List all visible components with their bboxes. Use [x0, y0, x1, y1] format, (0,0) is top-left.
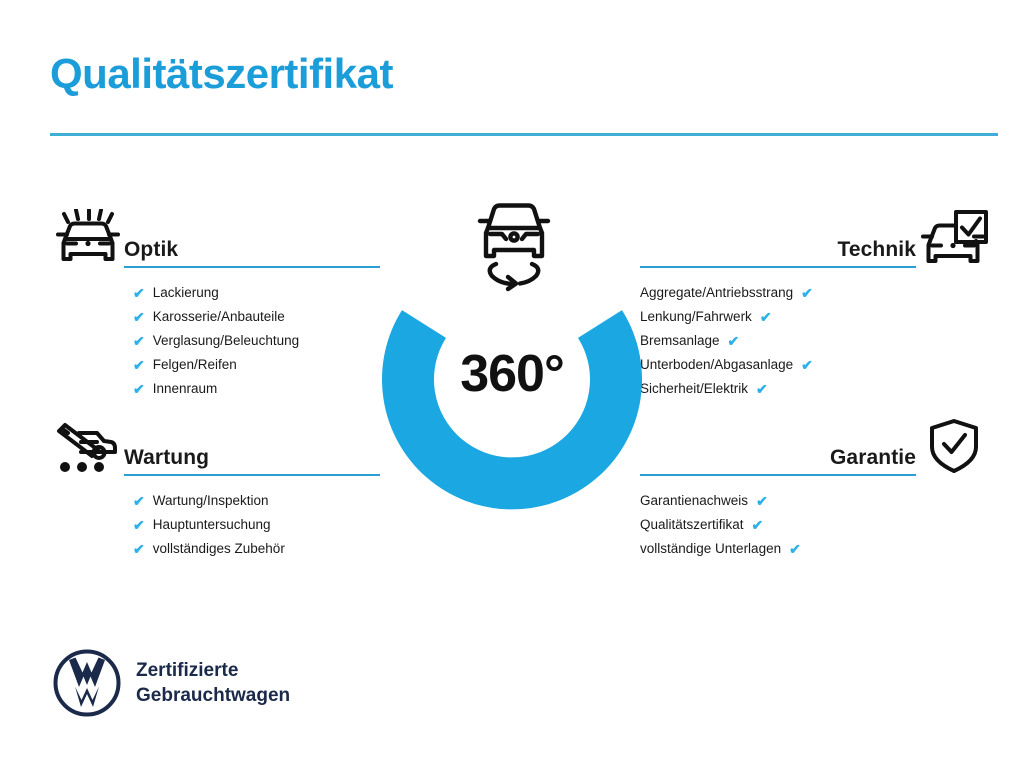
list-item: ✔vollständige Unterlagen	[640, 537, 897, 561]
badge-360-check: Gebrauchtwagen-Check 360°	[372, 196, 652, 486]
list-item: ✔Garantienachweis	[640, 489, 897, 513]
list-item: ✔Wartung/Inspektion	[133, 489, 380, 513]
list-item: ✔Lackierung	[133, 281, 380, 305]
car-lift-service-icon	[48, 416, 124, 476]
list-item-label: Verglasung/Beleuchtung	[153, 329, 299, 353]
list-item-label: Karosserie/Anbauteile	[153, 305, 285, 329]
section-underline	[124, 266, 380, 268]
list-item-label: Lenkung/Fahrwerk	[640, 305, 752, 329]
technik-list: ✔Aggregate/Antriebsstrang ✔Lenkung/Fahrw…	[640, 281, 992, 401]
check-icon: ✔	[133, 358, 145, 372]
section-title-optik: Optik	[124, 239, 380, 261]
list-item-label: Lackierung	[153, 281, 219, 305]
check-icon: ✔	[133, 542, 145, 556]
section-underline	[640, 474, 916, 476]
page-title: Qualitätszertifikat	[50, 50, 393, 98]
section-technik: Technik ✔Aggregate/Antriebsstrang ✔Lenku…	[640, 206, 992, 417]
list-item-label: Qualitätszertifikat	[640, 513, 744, 537]
list-item: ✔Hauptuntersuchung	[133, 513, 380, 537]
list-item-label: Unterboden/Abgasanlage	[640, 353, 793, 377]
list-item-label: Hauptuntersuchung	[153, 513, 271, 537]
section-optik: Optik ✔Lackierung ✔Karosserie/Anbauteile…	[48, 206, 380, 417]
check-icon: ✔	[728, 334, 740, 348]
list-item-label: Garantienachweis	[640, 489, 748, 513]
list-item: ✔Unterboden/Abgasanlage	[640, 353, 897, 377]
check-icon: ✔	[133, 494, 145, 508]
certificate-page: Qualitätszertifikat	[0, 0, 1024, 768]
section-title-garantie: Garantie	[640, 447, 916, 469]
list-item: ✔Aggregate/Antriebsstrang	[640, 281, 897, 305]
check-icon: ✔	[133, 518, 145, 532]
check-icon: ✔	[133, 310, 145, 324]
car-front-checkbox-icon	[916, 208, 992, 268]
list-item-label: Wartung/Inspektion	[153, 489, 269, 513]
section-underline	[124, 474, 380, 476]
shield-check-icon	[916, 416, 992, 476]
section-title-technik: Technik	[640, 239, 916, 261]
list-item: ✔Verglasung/Beleuchtung	[133, 329, 380, 353]
list-item: ✔Innenraum	[133, 377, 380, 401]
list-item: ✔vollständiges Zubehör	[133, 537, 380, 561]
list-item-label: Felgen/Reifen	[153, 353, 237, 377]
section-underline	[640, 266, 916, 268]
list-item: ✔Bremsanlage	[640, 329, 897, 353]
list-item: ✔Lenkung/Fahrwerk	[640, 305, 897, 329]
badge-360-label: 360°	[372, 344, 652, 404]
check-icon: ✔	[752, 518, 764, 532]
vw-logo-text: Zertifizierte Gebrauchtwagen	[136, 658, 290, 708]
list-item: ✔Felgen/Reifen	[133, 353, 380, 377]
section-wartung: Wartung ✔Wartung/Inspektion ✔Hauptunters…	[48, 414, 380, 577]
check-icon: ✔	[789, 542, 801, 556]
check-icon: ✔	[801, 286, 813, 300]
check-icon: ✔	[133, 334, 145, 348]
header-divider	[50, 133, 998, 136]
garantie-list: ✔Garantienachweis ✔Qualitätszertifikat ✔…	[640, 489, 992, 561]
check-icon: ✔	[760, 310, 772, 324]
section-title-wartung: Wartung	[124, 447, 380, 469]
check-icon: ✔	[133, 286, 145, 300]
wartung-list: ✔Wartung/Inspektion ✔Hauptuntersuchung ✔…	[48, 489, 380, 561]
vw-logo	[52, 648, 122, 718]
check-icon: ✔	[133, 382, 145, 396]
check-icon: ✔	[801, 358, 813, 372]
optik-list: ✔Lackierung ✔Karosserie/Anbauteile ✔Verg…	[48, 281, 380, 401]
section-garantie: Garantie ✔Garantienachweis ✔Qualitätszer…	[640, 414, 992, 577]
list-item: ✔Qualitätszertifikat	[640, 513, 897, 537]
list-item: ✔Sicherheit/Elektrik	[640, 377, 897, 401]
list-item: ✔Karosserie/Anbauteile	[133, 305, 380, 329]
check-icon: ✔	[756, 382, 768, 396]
list-item-label: vollständiges Zubehör	[153, 537, 285, 561]
list-item-label: Innenraum	[153, 377, 218, 401]
list-item-label: Aggregate/Antriebsstrang	[640, 281, 793, 305]
car-front-rotate-icon	[464, 196, 564, 292]
vw-logo-line1: Zertifizierte	[136, 658, 290, 683]
car-front-shine-icon	[48, 208, 124, 268]
vw-logo-block: Zertifizierte Gebrauchtwagen	[52, 648, 290, 718]
check-icon: ✔	[756, 494, 768, 508]
vw-logo-line2: Gebrauchtwagen	[136, 683, 290, 708]
list-item-label: Sicherheit/Elektrik	[640, 377, 748, 401]
list-item-label: vollständige Unterlagen	[640, 537, 781, 561]
